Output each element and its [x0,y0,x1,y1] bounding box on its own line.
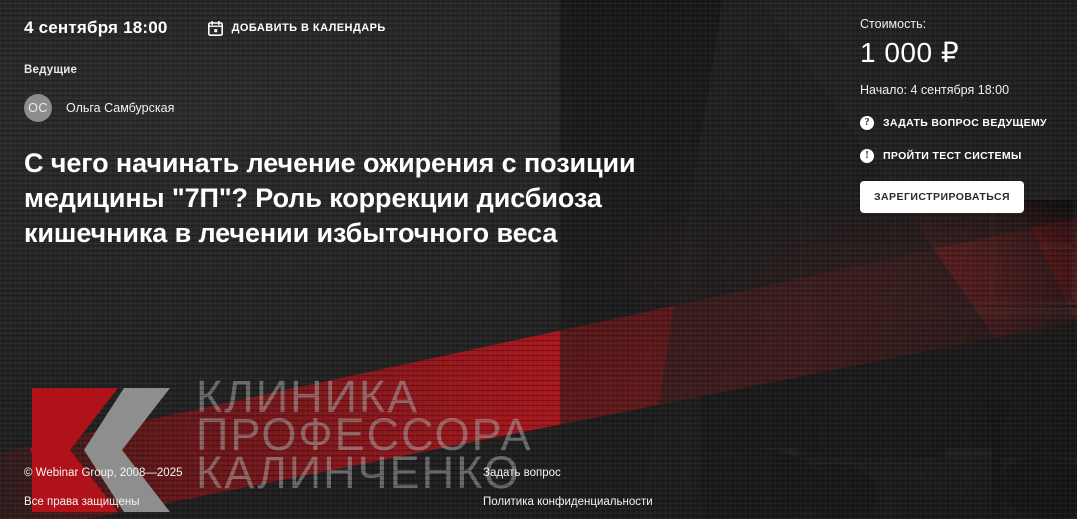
ask-question-label: ЗАДАТЬ ВОПРОС ВЕДУЩЕМУ [883,117,1047,129]
footer-copyright: © Webinar Group, 2008—2025 [24,467,183,479]
add-to-calendar-button[interactable]: ДОБАВИТЬ В КАЛЕНДАРЬ [208,21,386,36]
question-mark-icon: ? [860,116,874,130]
start-time-line: Начало: 4 сентября 18:00 [860,83,1077,97]
hosts-label: Ведущие [24,64,824,76]
price-value: 1 000 ₽ [860,36,1077,69]
page-content: 4 сентября 18:00 ДОБАВИТЬ В КАЛЕНДАРЬ Ве… [0,0,1077,519]
register-button[interactable]: ЗАРЕГИСТРИРОВАТЬСЯ [860,181,1024,213]
system-test-button[interactable]: ! ПРОЙТИ ТЕСТ СИСТЕМЫ [860,149,1077,163]
ask-question-button[interactable]: ? ЗАДАТЬ ВОПРОС ВЕДУЩЕМУ [860,116,1077,130]
host-list-item[interactable]: ОС Ольга Самбурская [24,94,824,122]
event-info-column: 4 сентября 18:00 ДОБАВИТЬ В КАЛЕНДАРЬ Ве… [24,0,824,251]
host-name: Ольга Самбурская [66,101,174,115]
exclamation-mark-icon: ! [860,149,874,163]
footer: © Webinar Group, 2008—2025 Все права защ… [0,409,1077,519]
event-date: 4 сентября 18:00 [24,18,168,38]
footer-link-ask-question[interactable]: Задать вопрос [483,467,561,479]
system-test-label: ПРОЙТИ ТЕСТ СИСТЕМЫ [883,150,1022,162]
footer-link-privacy-policy[interactable]: Политика конфиденциальности [483,496,653,508]
price-label: Стоимость: [860,17,1077,31]
add-to-calendar-label: ДОБАВИТЬ В КАЛЕНДАРЬ [232,22,386,34]
page-title: С чего начинать лечение ожирения с позиц… [24,146,664,251]
date-row: 4 сентября 18:00 ДОБАВИТЬ В КАЛЕНДАРЬ [24,18,824,38]
calendar-icon [208,21,223,36]
registration-sidebar: Стоимость: 1 000 ₽ Начало: 4 сентября 18… [860,0,1077,213]
avatar: ОС [24,94,52,122]
kalinchenko-clinic-logo[interactable] [14,386,189,514]
footer-rights: Все права защищены [24,496,140,508]
